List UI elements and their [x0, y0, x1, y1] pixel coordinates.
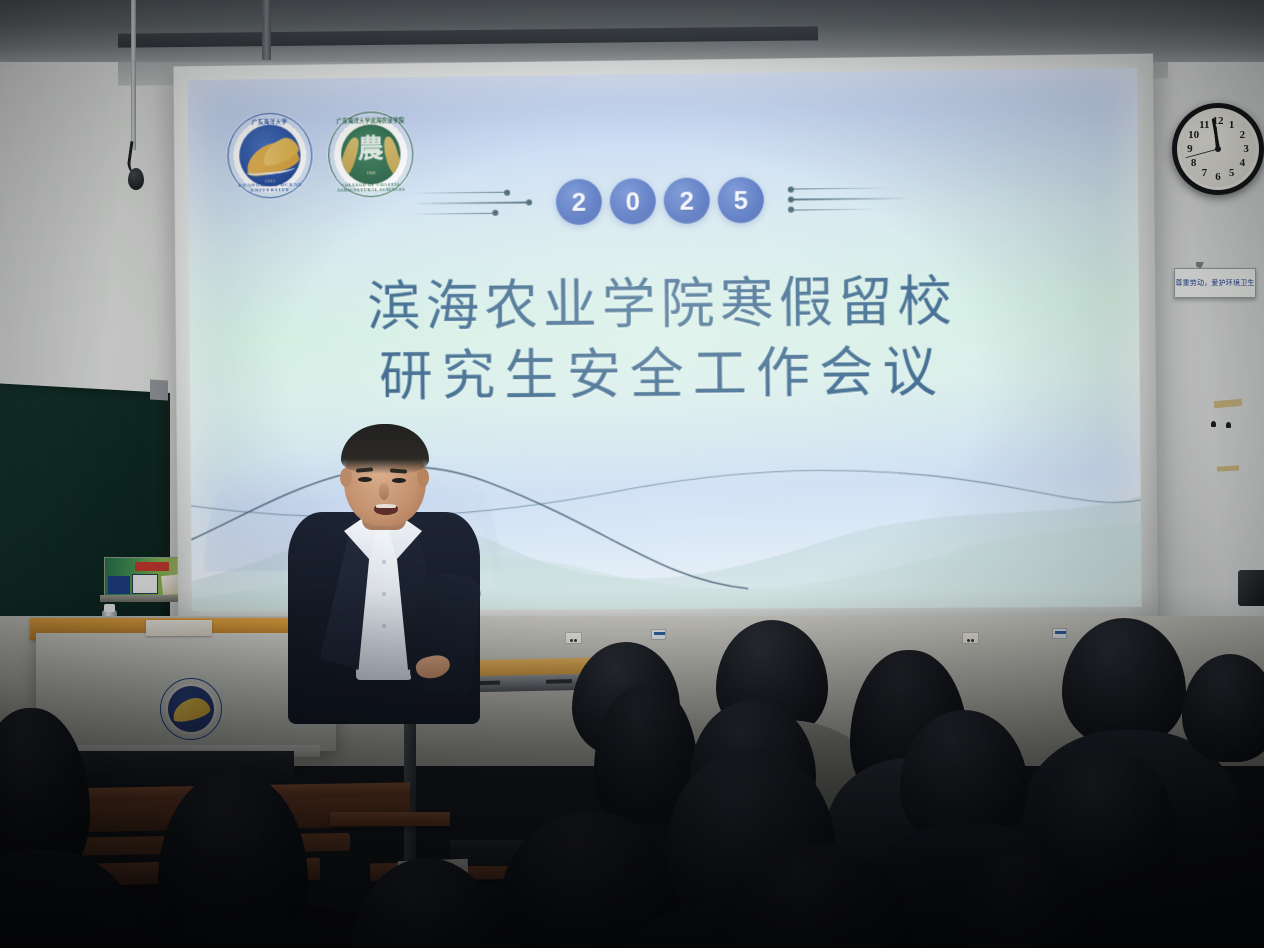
ceiling-pipe: [262, 0, 271, 60]
year-badges: 2 0 2 5: [556, 177, 764, 225]
wall-clock: 12 1 2 3 4 5 6 7 8 9 10 11: [1172, 103, 1264, 195]
lecture-hall-photo: 12 1 2 3 4 5 6 7 8 9 10 11 尊重劳动，爱护环境卫生: [0, 0, 1264, 948]
presenter-eye: [358, 477, 372, 482]
presenter-nose: [379, 483, 389, 500]
clock-numeral: 4: [1240, 157, 1246, 169]
wall-sign-text: 尊重劳动，爱护环境卫生: [1175, 278, 1254, 288]
clock-numeral: 2: [1240, 129, 1246, 141]
clock-numeral: 9: [1187, 143, 1193, 155]
slide-title: 滨海农业学院寒假留校 研究生安全工作会议: [189, 265, 1140, 414]
chalkboard-trim: [150, 380, 168, 401]
audience-shoulders: [0, 850, 140, 948]
clock-numeral: 5: [1229, 167, 1235, 179]
slide-year-row: 2 0 2 5: [188, 173, 1138, 229]
microphone-rod: [131, 0, 136, 150]
cas-logo-glyph: 農: [341, 136, 401, 163]
year-badge-digit: 2: [556, 179, 602, 225]
clock-numeral: 8: [1191, 157, 1197, 169]
audience-shoulders: [112, 916, 362, 948]
year-badge-digit: 0: [610, 178, 656, 224]
presenter-eye: [392, 478, 406, 483]
clock-numeral: 1: [1229, 119, 1235, 131]
deco-lines-right: [792, 187, 911, 211]
audience-head: [352, 858, 502, 948]
year-badge-digit: 5: [718, 177, 764, 224]
wall-sign: 尊重劳动，爱护环境卫生: [1174, 268, 1256, 298]
clock-center-pin: [1215, 146, 1221, 152]
audience-head: [1182, 654, 1264, 762]
audience-head: [1062, 618, 1186, 746]
wall-nail: [1211, 421, 1216, 427]
wall-poster: [104, 557, 188, 596]
clock-numeral: 7: [1202, 167, 1208, 179]
clock-numeral: 3: [1243, 143, 1249, 155]
presenter-mouth: [374, 504, 398, 515]
clock-numeral: 6: [1215, 171, 1221, 183]
presenter-ear: [340, 468, 352, 487]
clock-numeral: 10: [1188, 129, 1199, 141]
slide-title-line-2: 研究生安全工作会议: [190, 336, 1140, 414]
presenter-hair: [341, 424, 429, 474]
audience: be: [0, 600, 1264, 948]
presenter-ear: [417, 468, 429, 487]
year-badge-digit: 2: [664, 177, 710, 224]
deco-lines-left: [411, 191, 528, 214]
wall-nail: [1226, 422, 1231, 428]
clock-numeral: 11: [1199, 119, 1209, 131]
hanging-microphone-icon: [128, 168, 144, 190]
clock-face: 12 1 2 3 4 5 6 7 8 9 10 11: [1180, 111, 1256, 187]
cas-logo-year: 1958: [341, 170, 400, 176]
slide-title-line-1: 滨海农业学院寒假留校: [189, 265, 1139, 344]
